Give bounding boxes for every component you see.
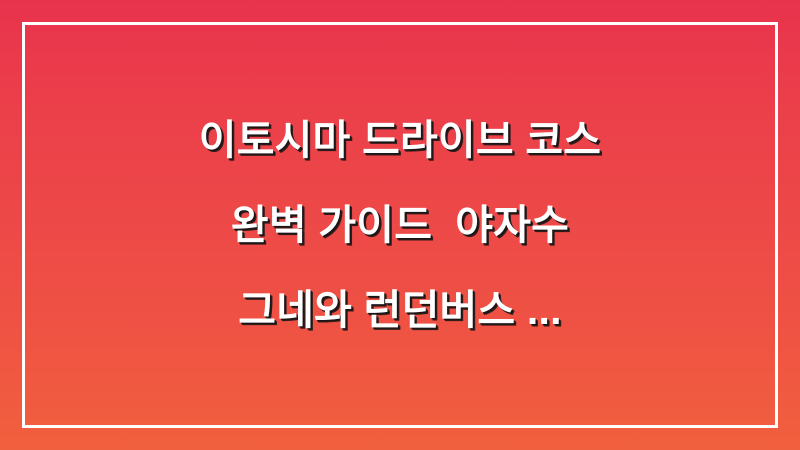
title-block: 이토시마 드라이브 코스 완벽 가이드 야자수 그네와 런던버스 ... <box>0 0 800 450</box>
title-line-1: 이토시마 드라이브 코스 <box>44 98 756 183</box>
title-line-3: 그네와 런던버스 ... <box>44 268 756 353</box>
title-line-2: 완벽 가이드 야자수 <box>44 183 756 268</box>
thumbnail-card: 이토시마 드라이브 코스 완벽 가이드 야자수 그네와 런던버스 ... <box>0 0 800 450</box>
